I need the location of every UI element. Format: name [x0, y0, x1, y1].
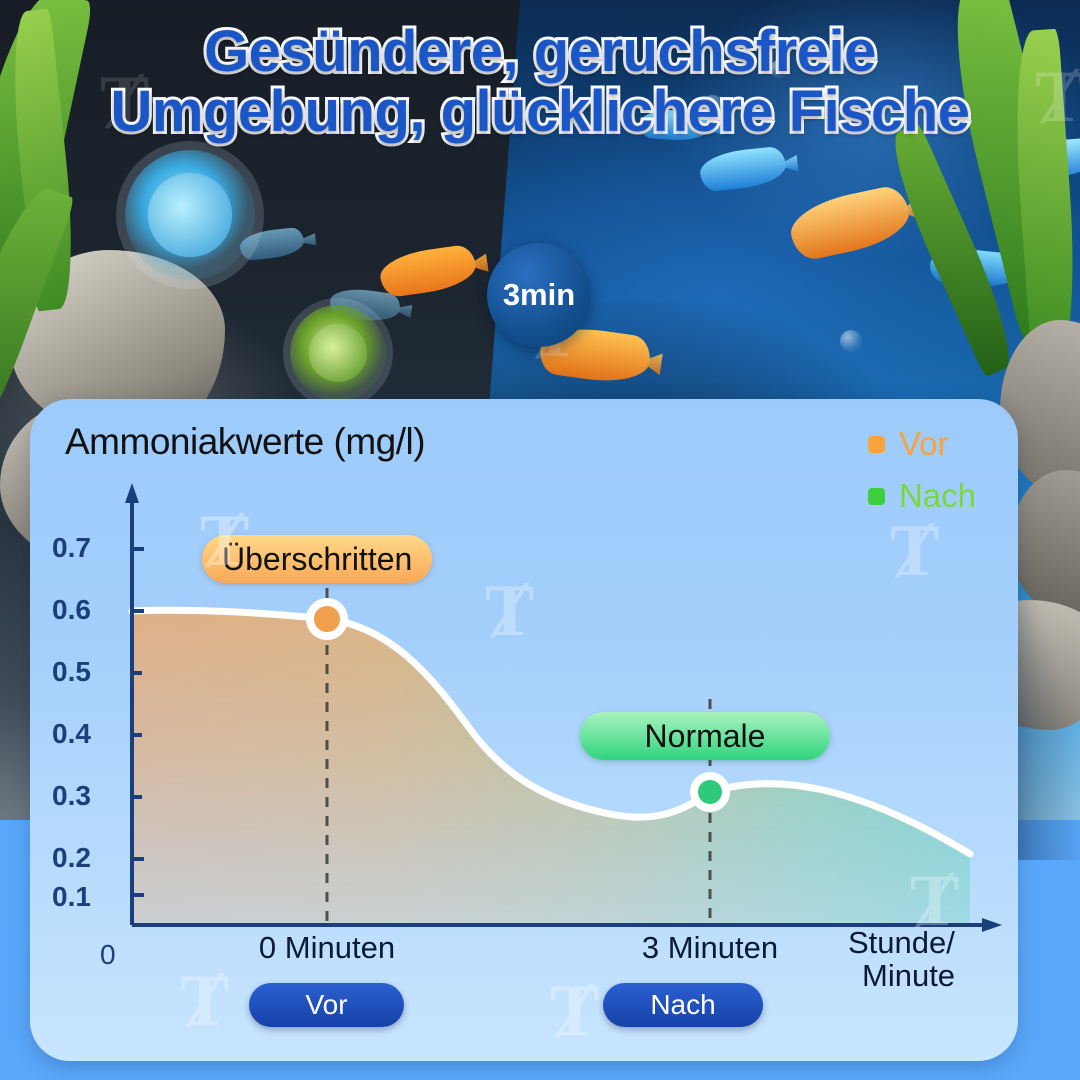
- y-tick-label: 0.5: [52, 656, 91, 688]
- x-tick-label-0-minuten: 0 Minuten: [207, 930, 447, 966]
- bacteria-icon: [125, 150, 255, 280]
- x-axis-unit-line-1: Stunde/: [848, 926, 1008, 959]
- axis-origin-label: 0: [100, 939, 116, 971]
- headline-line-2: Umgebung, glücklichere Fische: [0, 82, 1080, 142]
- chart-card: Ammoniakwerte (mg/l) Vor Nach: [30, 399, 1018, 1061]
- poster-canvas: Ⱦ Ⱦ Ⱦ Ⱦ Gesündere, geruchsfreie Umgebung…: [0, 0, 1080, 1080]
- y-tick-label: 0.4: [52, 718, 91, 750]
- y-axis-arrow: [125, 483, 139, 503]
- headline-line-1: Gesündere, geruchsfreie: [0, 22, 1080, 82]
- annotation-uberschritten: Überschritten: [202, 535, 432, 583]
- data-marker-nach: [694, 776, 726, 808]
- button-vor[interactable]: Vor: [249, 983, 404, 1027]
- x-axis-unit-line-2: Minute: [848, 959, 1008, 992]
- annotation-normale: Normale: [580, 712, 830, 760]
- page-title: Gesündere, geruchsfreie Umgebung, glückl…: [0, 22, 1080, 143]
- y-tick-label: 0.3: [52, 780, 91, 812]
- x-tick-label-3-minuten: 3 Minuten: [590, 930, 830, 966]
- chart-area-fill: [132, 610, 970, 925]
- y-tick-label: 0.1: [52, 881, 91, 913]
- timer-badge: 3min: [487, 243, 591, 347]
- algae-icon: [290, 305, 386, 401]
- timer-badge-label: 3min: [503, 277, 575, 313]
- button-nach[interactable]: Nach: [603, 983, 763, 1027]
- y-tick-label: 0.6: [52, 594, 91, 626]
- bubble-icon: [840, 330, 862, 352]
- y-tick-label: 0.2: [52, 842, 91, 874]
- data-marker-vor: [310, 602, 344, 636]
- y-tick-label: 0.7: [52, 532, 91, 564]
